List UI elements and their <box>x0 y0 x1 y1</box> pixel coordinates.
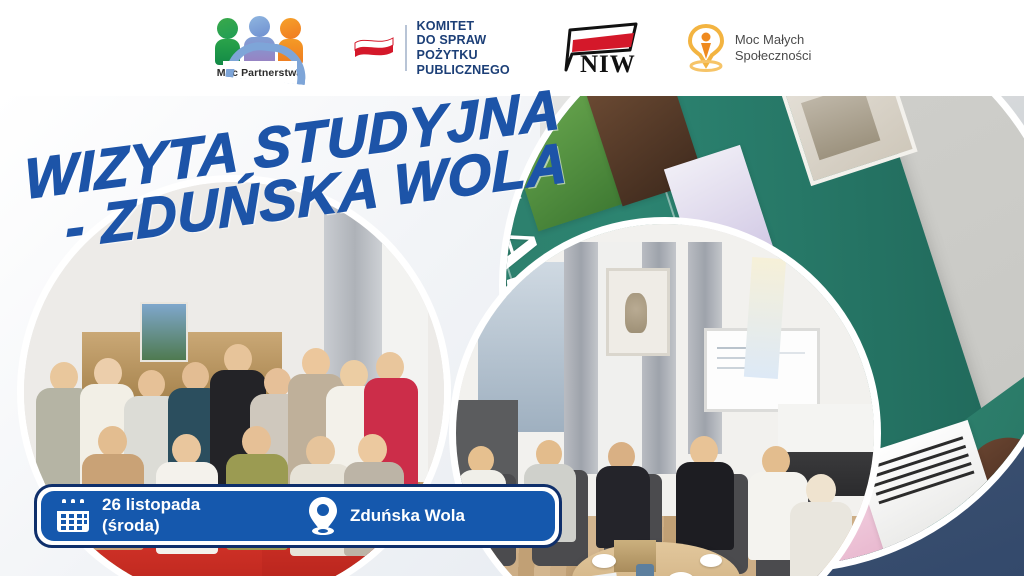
logo-header: Moc Partnerstwa KOMITET DO SPRAW POŻYTKU… <box>0 0 1024 96</box>
poster-canvas: Moc Partnerstwa KOMITET DO SPRAW POŻYTKU… <box>0 0 1024 576</box>
polish-flag-icon <box>353 34 395 62</box>
calendar-icon <box>55 498 91 534</box>
logo-moc-malych-spolecznosci: Moc Małych Społeczności <box>686 23 812 73</box>
event-date-line-1: 26 listopada <box>102 495 200 514</box>
divider <box>405 25 407 71</box>
logo-komitet-label: KOMITET DO SPRAW POŻYTKU PUBLICZNEGO <box>417 19 510 77</box>
logo-mms-label: Moc Małych Społeczności <box>735 32 812 63</box>
event-location-text: Zduńska Wola <box>350 506 465 527</box>
location-pin-icon <box>307 496 339 536</box>
location-pin-microphone-icon <box>686 23 726 73</box>
moc-partnerstwa-icon <box>213 17 307 65</box>
mms-line-1: Moc Małych <box>735 32 812 48</box>
svg-text:NIW: NIW <box>580 51 636 76</box>
logo-moc-partnerstwa: Moc Partnerstwa <box>213 17 307 79</box>
komitet-line-4: PUBLICZNEGO <box>417 63 510 78</box>
logo-niw: NIW <box>556 20 640 76</box>
mms-line-2: Społeczności <box>735 48 812 64</box>
komitet-line-3: POŻYTKU <box>417 48 510 63</box>
logo-komitet: KOMITET DO SPRAW POŻYTKU PUBLICZNEGO <box>353 19 510 77</box>
event-date-line-2: (środa) <box>102 516 160 535</box>
event-location: Zduńska Wola <box>307 496 465 536</box>
niw-flag-icon: NIW <box>556 20 640 76</box>
event-date-text: 26 listopada (środa) <box>102 495 200 536</box>
event-date: 26 listopada (środa) <box>55 495 291 536</box>
event-info-bar: 26 listopada (środa) Zduńska Wola <box>34 484 562 548</box>
komitet-line-2: DO SPRAW <box>417 33 510 48</box>
komitet-line-1: KOMITET <box>417 19 510 34</box>
